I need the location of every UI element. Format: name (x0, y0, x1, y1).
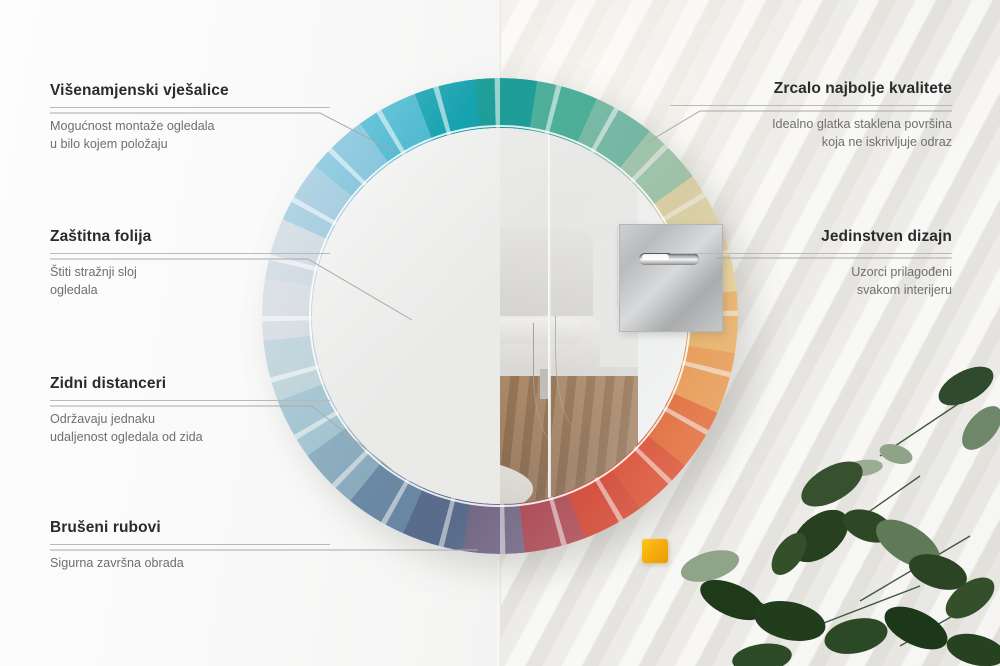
callout-zrcalo-najbolje-kvalitete: Zrcalo najbolje kvalitete Idealno glatka… (670, 80, 952, 152)
callout-rule (670, 105, 952, 106)
glass-blank-half (312, 128, 500, 504)
foliage-decoration (670, 336, 1000, 666)
callout-zidni-distanceri: Zidni distanceri Održavaju jednaku udalj… (50, 375, 330, 447)
callout-title: Brušeni rubovi (50, 519, 330, 537)
image-split-line (548, 128, 551, 504)
callout-title: Zidni distanceri (50, 375, 330, 393)
callout-rule (50, 544, 330, 545)
callout-title: Zaštitna folija (50, 228, 330, 246)
callout-rule (50, 107, 330, 108)
callout-body: Održavaju jednaku udaljenost ogledala od… (50, 410, 330, 447)
reflected-room (500, 128, 638, 504)
callout-line-2: udaljenost ogledala od zida (50, 430, 203, 444)
callout-line-2: koja ne iskrivljuje odraz (822, 135, 952, 149)
callout-body: Uzorci prilagođeni svakom interijeru (670, 263, 952, 300)
callout-line-2: ogledala (50, 283, 98, 297)
callout-body: Štiti stražnji sloj ogledala (50, 263, 330, 300)
wall-spacer (642, 539, 668, 563)
callout-line-1: Uzorci prilagođeni (851, 265, 952, 279)
callout-body: Mogućnost montaže ogledala u bilo kojem … (50, 117, 330, 154)
callout-body: Sigurna završna obrada (50, 554, 330, 572)
product-infographic: Višenamjenski vješalice Mogućnost montaž… (0, 0, 1000, 666)
callout-line-2: u bilo kojem položaju (50, 137, 168, 151)
callout-jedinstven-dizajn: Jedinstven dizajn Uzorci prilagođeni sva… (670, 228, 952, 300)
callout-visenamjenski-vjesalice: Višenamjenski vješalice Mogućnost montaž… (50, 82, 330, 154)
callout-line-1: Mogućnost montaže ogledala (50, 119, 215, 133)
callout-line-2: svakom interijeru (857, 283, 952, 297)
callout-title: Višenamjenski vješalice (50, 82, 330, 100)
callout-rule (50, 400, 330, 401)
leaves-icon (670, 336, 1000, 666)
callout-line-1: Sigurna završna obrada (50, 556, 184, 570)
callout-rule (670, 253, 952, 254)
callout-line-1: Štiti stražnji sloj (50, 265, 137, 279)
callout-title: Jedinstven dizajn (670, 228, 952, 246)
callout-bruseni-rubovi: Brušeni rubovi Sigurna završna obrada (50, 519, 330, 572)
mirror (262, 78, 738, 554)
callout-zastitna-folija: Zaštitna folija Štiti stražnji sloj ogle… (50, 228, 330, 300)
callout-line-1: Idealno glatka staklena površina (772, 117, 952, 131)
callout-body: Idealno glatka staklena površina koja ne… (670, 115, 952, 152)
callout-line-1: Održavaju jednaku (50, 412, 155, 426)
callout-title: Zrcalo najbolje kvalitete (670, 80, 952, 98)
callout-rule (50, 253, 330, 254)
